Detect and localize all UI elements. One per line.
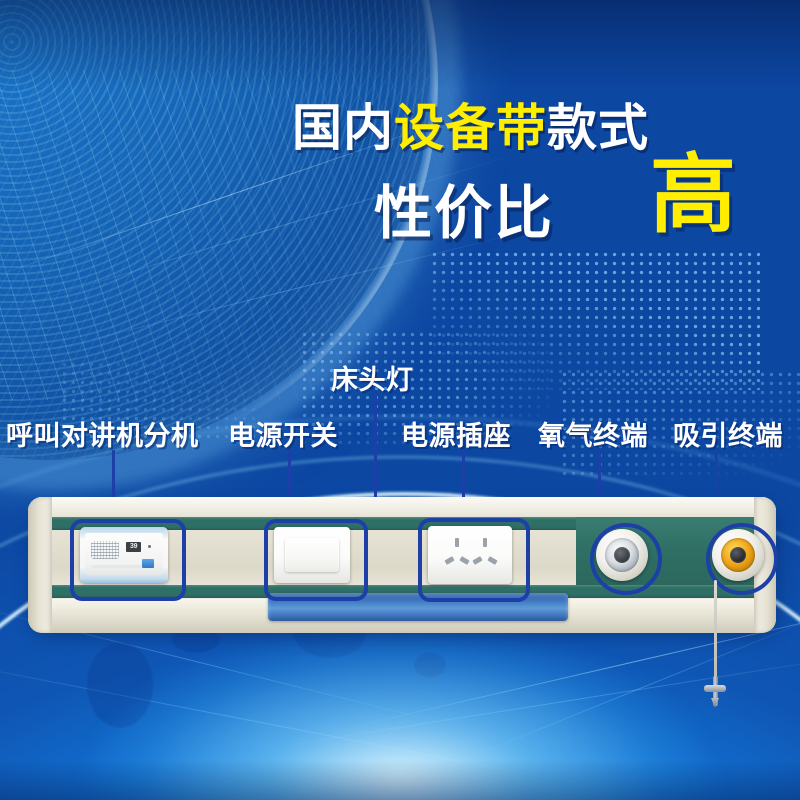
suction-hose — [714, 580, 717, 680]
callout-label-bed-lamp: 床头灯 — [331, 358, 414, 397]
callout-label-suction: 吸引终端 — [673, 414, 783, 453]
headline-part2: 款式 — [547, 100, 649, 156]
highlight-intercom — [70, 519, 186, 601]
highlight-oxygen — [590, 523, 662, 595]
product-banner-image: 国内设备带款式 性价比 高 呼叫对讲机分机 电源开关 床头灯 电源插座 氧气终端… — [0, 0, 800, 800]
top-vignette — [0, 0, 800, 90]
suction-hose-fitting — [703, 676, 727, 708]
highlight-power-socket — [418, 518, 530, 602]
headline: 国内设备带款式 — [292, 88, 649, 160]
callout-label-intercom: 呼叫对讲机分机 — [6, 414, 199, 453]
callout-label-oxygen: 氧气终端 — [538, 414, 648, 453]
callout-label-power-socket: 电源插座 — [401, 414, 511, 453]
bottom-vignette — [0, 760, 800, 800]
panel-top-edge — [28, 497, 776, 519]
headline-part1: 国内 — [292, 100, 394, 156]
headline-highlight: 设备带 — [394, 100, 547, 156]
subheadline: 性价比 — [374, 166, 554, 250]
bed-head-unit-panel: 39 — [28, 497, 776, 633]
panel-end-cap-left — [28, 497, 52, 633]
callout-label-power-switch: 电源开关 — [228, 414, 338, 453]
highlight-power-switch — [264, 519, 368, 601]
emphasis-word: 高 — [650, 152, 736, 238]
